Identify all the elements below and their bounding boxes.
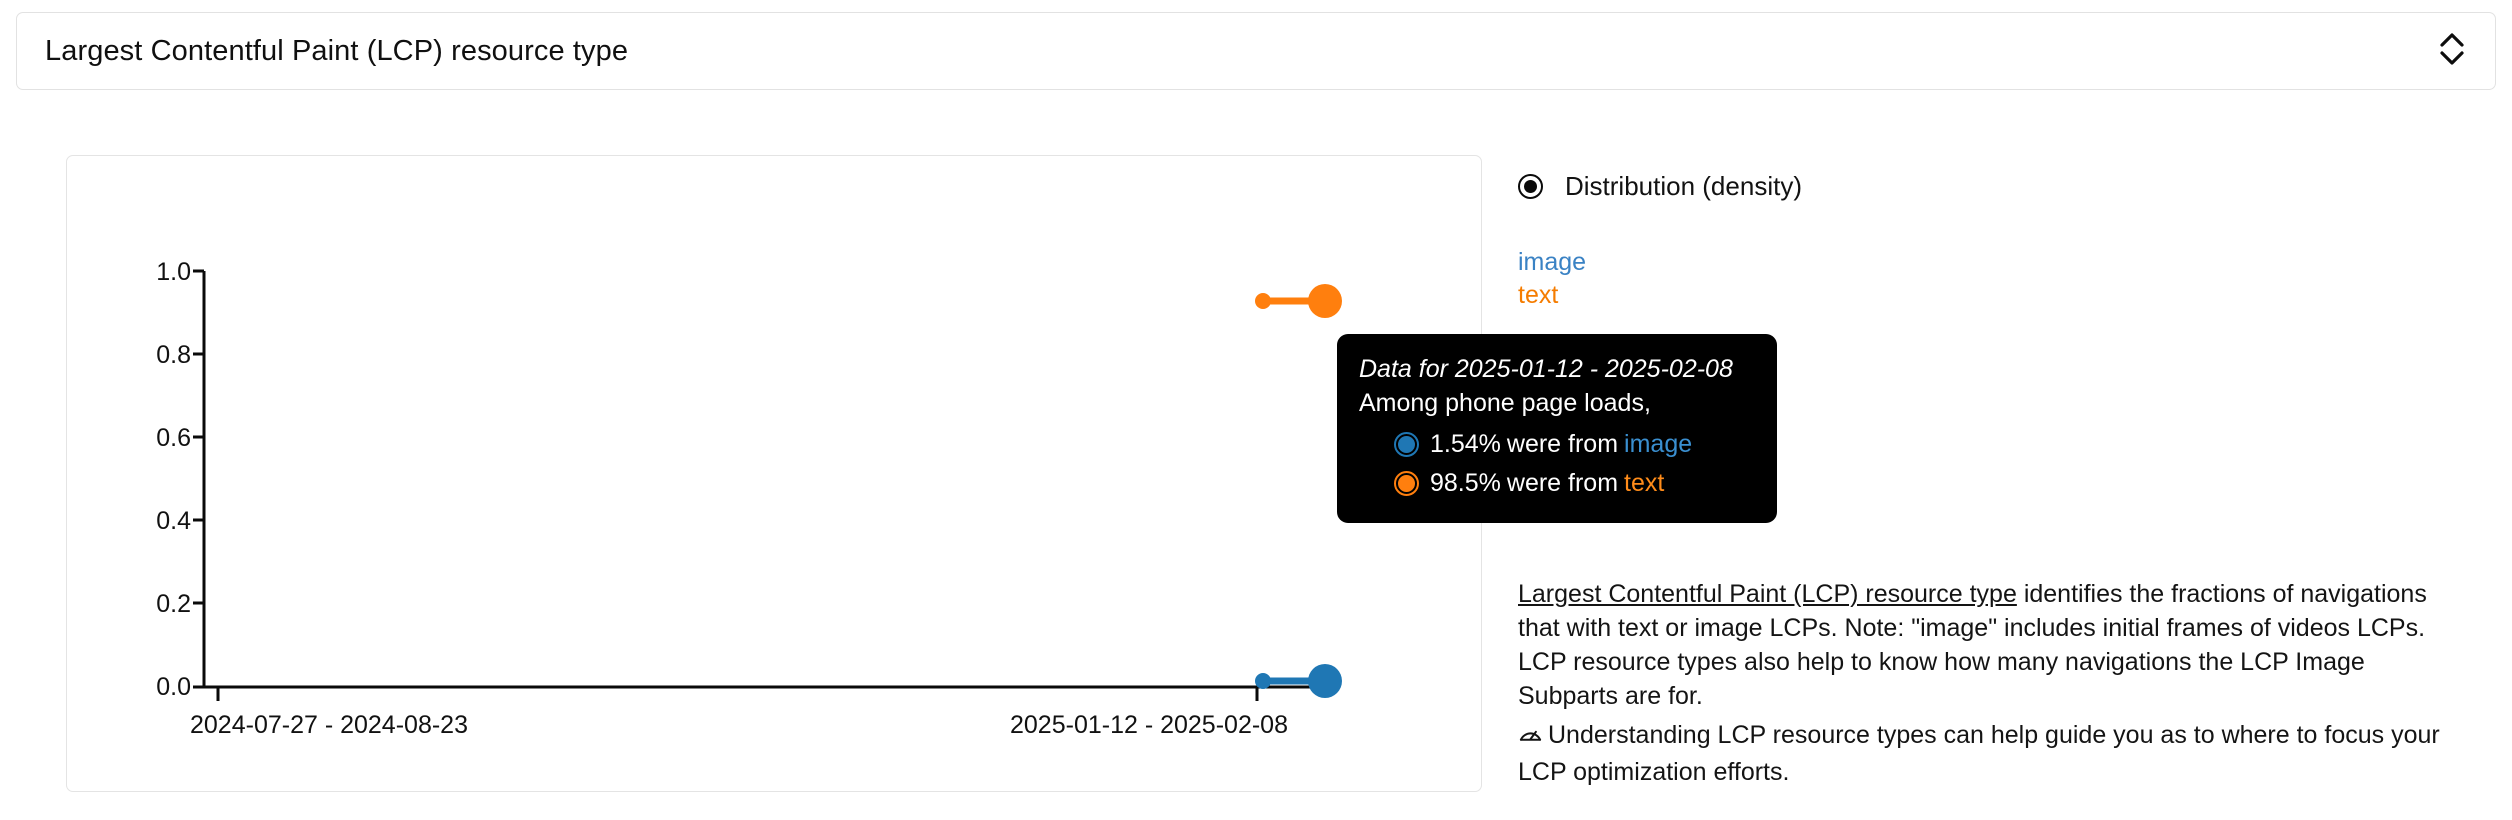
tooltip-row-image: 1.54% were from image	[1359, 430, 1751, 459]
page-title: Largest Contentful Paint (LCP) resource …	[45, 35, 628, 68]
x-axis-spine	[204, 687, 1327, 701]
chart-tooltip: Data for 2025-01-12 - 2025-02-08 Among p…	[1337, 334, 1777, 523]
x-tick-label-start: 2024-07-27 - 2024-08-23	[190, 711, 468, 739]
panel-header[interactable]: Largest Contentful Paint (LCP) resource …	[16, 12, 2496, 90]
speedometer-icon	[1518, 721, 1543, 755]
series-image[interactable]	[1255, 664, 1342, 698]
tooltip-title: Data for 2025-01-12 - 2025-02-08	[1359, 355, 1751, 384]
tooltip-image-middle: were from	[1507, 430, 1618, 459]
x-tick-label-end: 2025-01-12 - 2025-02-08	[1010, 711, 1288, 739]
metric-option-distribution-density[interactable]: Distribution (density)	[1518, 168, 2458, 204]
y-tick-label-1-0: 1.0	[156, 258, 191, 286]
tooltip-text-middle: were from	[1507, 469, 1618, 498]
y-tick-label-0-0: 0.0	[156, 673, 191, 701]
tooltip-subtitle: Among phone page loads,	[1359, 389, 1751, 418]
y-tick-label-0-6: 0.6	[156, 424, 191, 452]
tooltip-row-text: 98.5% were from text	[1359, 469, 1751, 498]
chart-card[interactable]: Distribution (density) 1.0 0.8 0.6 0.4 0…	[66, 155, 1482, 792]
tooltip-image-value: 1.54%	[1430, 430, 1501, 459]
data-point-text-1	[1255, 293, 1271, 309]
y-tick-label-0-8: 0.8	[156, 341, 191, 369]
tip-paragraph: Understanding LCP resource types can hel…	[1518, 718, 2468, 789]
side-panel: Distribution (density) image text	[1518, 155, 2458, 312]
lcp-resource-type-chart[interactable]: Distribution (density) 1.0 0.8 0.6 0.4 0…	[67, 156, 1481, 791]
y-tick-label-0-4: 0.4	[156, 507, 191, 535]
tooltip-text-series: text	[1624, 469, 1664, 498]
y-tick-label-0-2: 0.2	[156, 590, 191, 618]
chart-legend: image text	[1518, 246, 2458, 312]
tip-text: Understanding LCP resource types can hel…	[1518, 721, 2440, 786]
legend-item-image[interactable]: image	[1518, 246, 2458, 279]
legend-item-text[interactable]: text	[1518, 279, 2458, 312]
radio-selected-icon[interactable]	[1518, 174, 1543, 199]
data-point-text-2	[1308, 284, 1342, 318]
series-dot-text-icon	[1396, 473, 1417, 494]
data-point-image-2	[1308, 664, 1342, 698]
x-tick-labels: 2024-07-27 - 2024-08-23 2025-01-12 - 202…	[190, 711, 1288, 739]
data-point-image-1	[1255, 673, 1271, 689]
series-text[interactable]	[1255, 284, 1342, 318]
metric-option-label: Distribution (density)	[1565, 171, 1802, 202]
series-dot-image-icon	[1396, 434, 1417, 455]
description-paragraph: Largest Contentful Paint (LCP) resource …	[1518, 577, 2468, 713]
tooltip-image-series: image	[1624, 430, 1692, 459]
description-link[interactable]: Largest Contentful Paint (LCP) resource …	[1518, 580, 2017, 608]
chevron-up-down-icon[interactable]	[2435, 28, 2469, 75]
radio-inner-dot	[1524, 180, 1537, 193]
tooltip-text-value: 98.5%	[1430, 469, 1501, 498]
lcp-resource-type-panel: Largest Contentful Paint (LCP) resource …	[0, 0, 2512, 820]
